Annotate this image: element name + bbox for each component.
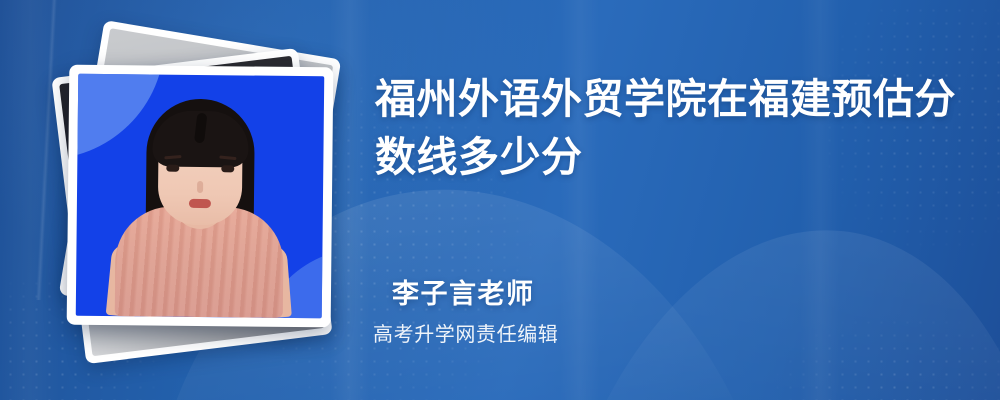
article-headline: 福州外语外贸学院在福建预估分数线多少分 <box>375 70 975 186</box>
photo-stack <box>48 36 338 356</box>
text-column: 福州外语外贸学院在福建预估分数线多少分 李子言老师 高考升学网责任编辑 <box>373 0 983 400</box>
portrait-nose <box>197 181 203 193</box>
portrait-figure <box>99 92 301 318</box>
author-role: 高考升学网责任编辑 <box>373 318 558 347</box>
portrait-photo <box>76 74 325 319</box>
portrait-eye-left <box>166 165 179 172</box>
portrait-mouth <box>189 199 211 208</box>
photo-card-front <box>67 65 334 328</box>
article-banner: 福州外语外贸学院在福建预估分数线多少分 李子言老师 高考升学网责任编辑 <box>0 0 1000 400</box>
portrait-eye-right <box>221 165 234 172</box>
author-name: 李子言老师 <box>392 272 535 311</box>
